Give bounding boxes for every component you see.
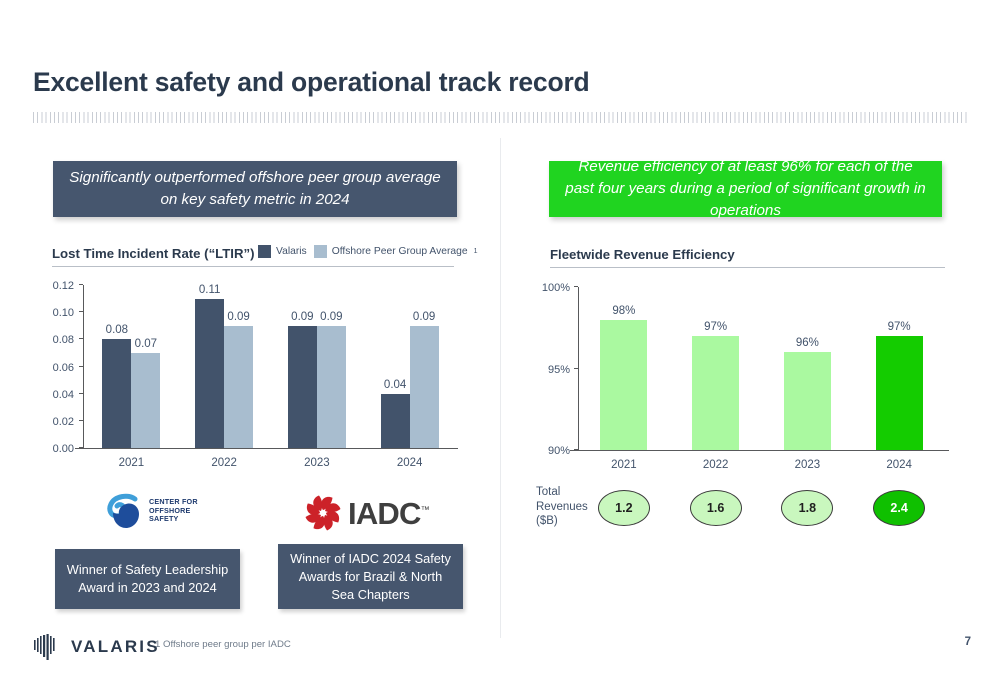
valaris-footer-logo: VALARIS [33, 632, 160, 662]
y-tick-mark [79, 366, 83, 367]
title-divider [33, 112, 967, 123]
bar-2024-offshore-peer-group-average [410, 326, 439, 448]
center-for-offshore-safety-logo: CENTER FOR OFFSHORE SAFETY [104, 489, 204, 533]
x-tick-label-2024: 2024 [869, 459, 929, 471]
valaris-mark-icon [33, 632, 63, 662]
bar-value-label: 0.08 [95, 324, 139, 336]
iadc-logo: IADC™ [304, 492, 434, 534]
bar-value-label: 96% [785, 337, 829, 349]
bar-value-label: 97% [694, 321, 738, 333]
y-tick-mark [574, 368, 578, 369]
y-tick-label: 0.12 [40, 280, 74, 292]
award-caption-cos: Winner of Safety Leadership Award in 202… [55, 549, 240, 609]
bar-value-label: 0.11 [188, 284, 232, 296]
page-number: 7 [965, 636, 971, 648]
y-tick-mark [79, 284, 83, 285]
bar-value-label: 0.09 [309, 311, 353, 323]
cos-logo-text: CENTER FOR OFFSHORE SAFETY [149, 498, 198, 524]
y-tick-mark [574, 449, 578, 450]
y-tick-label: 100% [536, 282, 570, 294]
right-callout-banner: Revenue efficiency of at least 96% for e… [549, 161, 942, 217]
ltir-chart-title: Lost Time Incident Rate (“LTIR”) [52, 246, 254, 261]
left-callout-banner: Significantly outperformed offshore peer… [53, 161, 457, 217]
cos-logo-line-3: SAFETY [149, 515, 198, 524]
x-tick-label-2021: 2021 [101, 457, 161, 469]
legend-entry-peer: Offshore Peer Group Average 1 [314, 245, 478, 258]
total-revenue-bubble-2024: 2.4 [873, 490, 925, 526]
x-tick-label-2022: 2022 [686, 459, 746, 471]
page-title: Excellent safety and operational track r… [33, 67, 590, 98]
y-axis-line [578, 287, 579, 450]
y-tick-mark [79, 393, 83, 394]
y-tick-mark [79, 311, 83, 312]
bar-2021-revenue-efficiency [600, 320, 647, 450]
y-tick-label: 0.08 [40, 334, 74, 346]
x-tick-label-2021: 2021 [594, 459, 654, 471]
bar-2023-valaris [288, 326, 317, 448]
ltir-y-axis: 0.000.020.040.060.080.100.12 [40, 285, 78, 448]
y-tick-label: 0.06 [40, 362, 74, 374]
slide-root: Excellent safety and operational track r… [0, 0, 1000, 685]
bar-2022-offshore-peer-group-average [224, 326, 253, 448]
y-tick-label: 0.02 [40, 416, 74, 428]
legend-swatch-peer [314, 245, 327, 258]
y-tick-label: 95% [536, 364, 570, 376]
total-revenues-label: TotalRevenues($B) [536, 485, 588, 529]
panel-divider [500, 138, 501, 638]
legend-label-valaris: Valaris [276, 246, 307, 257]
bar-value-label: 0.07 [124, 338, 168, 350]
ltir-legend: Valaris Offshore Peer Group Average 1 [258, 245, 477, 258]
y-tick-mark [79, 338, 83, 339]
iadc-logo-wordmark: IADC [348, 496, 421, 531]
total-revenue-bubble-2022: 1.6 [690, 490, 742, 526]
bar-value-label: 97% [877, 321, 921, 333]
iadc-pinwheel-icon [304, 494, 342, 532]
ltir-plot-area: 0.080.0720210.110.0920220.090.0920230.04… [83, 285, 454, 448]
iadc-logo-text: IADC™ [348, 498, 429, 529]
total-revenues-label-line-3: ($B) [536, 514, 588, 529]
y-tick-mark [79, 420, 83, 421]
revenue-efficiency-y-axis: 90%95%100% [536, 287, 574, 450]
fleetwide-header-rule [550, 267, 945, 268]
legend-label-peer: Offshore Peer Group Average [332, 246, 468, 257]
y-tick-mark [79, 447, 83, 448]
bar-value-label: 0.09 [402, 311, 446, 323]
y-tick-label: 90% [536, 445, 570, 457]
bar-2021-offshore-peer-group-average [131, 353, 160, 448]
bar-2024-valaris [381, 394, 410, 448]
footnote-text: 1 Offshore peer group per IADC [155, 639, 291, 650]
legend-swatch-valaris [258, 245, 271, 258]
y-tick-label: 0.10 [40, 307, 74, 319]
y-tick-label: 0.00 [40, 443, 74, 455]
revenue-efficiency-plot-area: 98%202197%202296%202397%2024 [578, 287, 945, 450]
bar-value-label: 98% [602, 305, 646, 317]
total-revenues-label-line-2: Revenues [536, 500, 588, 515]
fleetwide-chart-title: Fleetwide Revenue Efficiency [550, 247, 735, 262]
y-axis-line [83, 285, 84, 448]
bar-2023-offshore-peer-group-average [317, 326, 346, 448]
x-tick-label-2022: 2022 [194, 457, 254, 469]
y-tick-label: 0.04 [40, 389, 74, 401]
x-tick-label-2023: 2023 [287, 457, 347, 469]
award-caption-iadc: Winner of IADC 2024 Safety Awards for Br… [278, 544, 463, 609]
bar-value-label: 0.09 [217, 311, 261, 323]
x-tick-label-2024: 2024 [380, 457, 440, 469]
ltir-header-rule [52, 266, 454, 267]
cos-wave-icon [104, 491, 144, 531]
bar-2021-valaris [102, 339, 131, 448]
y-tick-mark [574, 286, 578, 287]
legend-entry-valaris: Valaris [258, 245, 307, 258]
x-tick-label-2023: 2023 [777, 459, 837, 471]
bar-2023-revenue-efficiency [784, 352, 831, 450]
legend-footnote-marker: 1 [474, 248, 478, 255]
total-revenue-bubble-2023: 1.8 [781, 490, 833, 526]
bar-2022-revenue-efficiency [692, 336, 739, 450]
valaris-wordmark: VALARIS [71, 637, 160, 657]
total-revenues-label-line-1: Total [536, 485, 588, 500]
total-revenue-bubble-2021: 1.2 [598, 490, 650, 526]
iadc-trademark-symbol: ™ [421, 504, 429, 514]
bar-2024-revenue-efficiency [876, 336, 923, 450]
